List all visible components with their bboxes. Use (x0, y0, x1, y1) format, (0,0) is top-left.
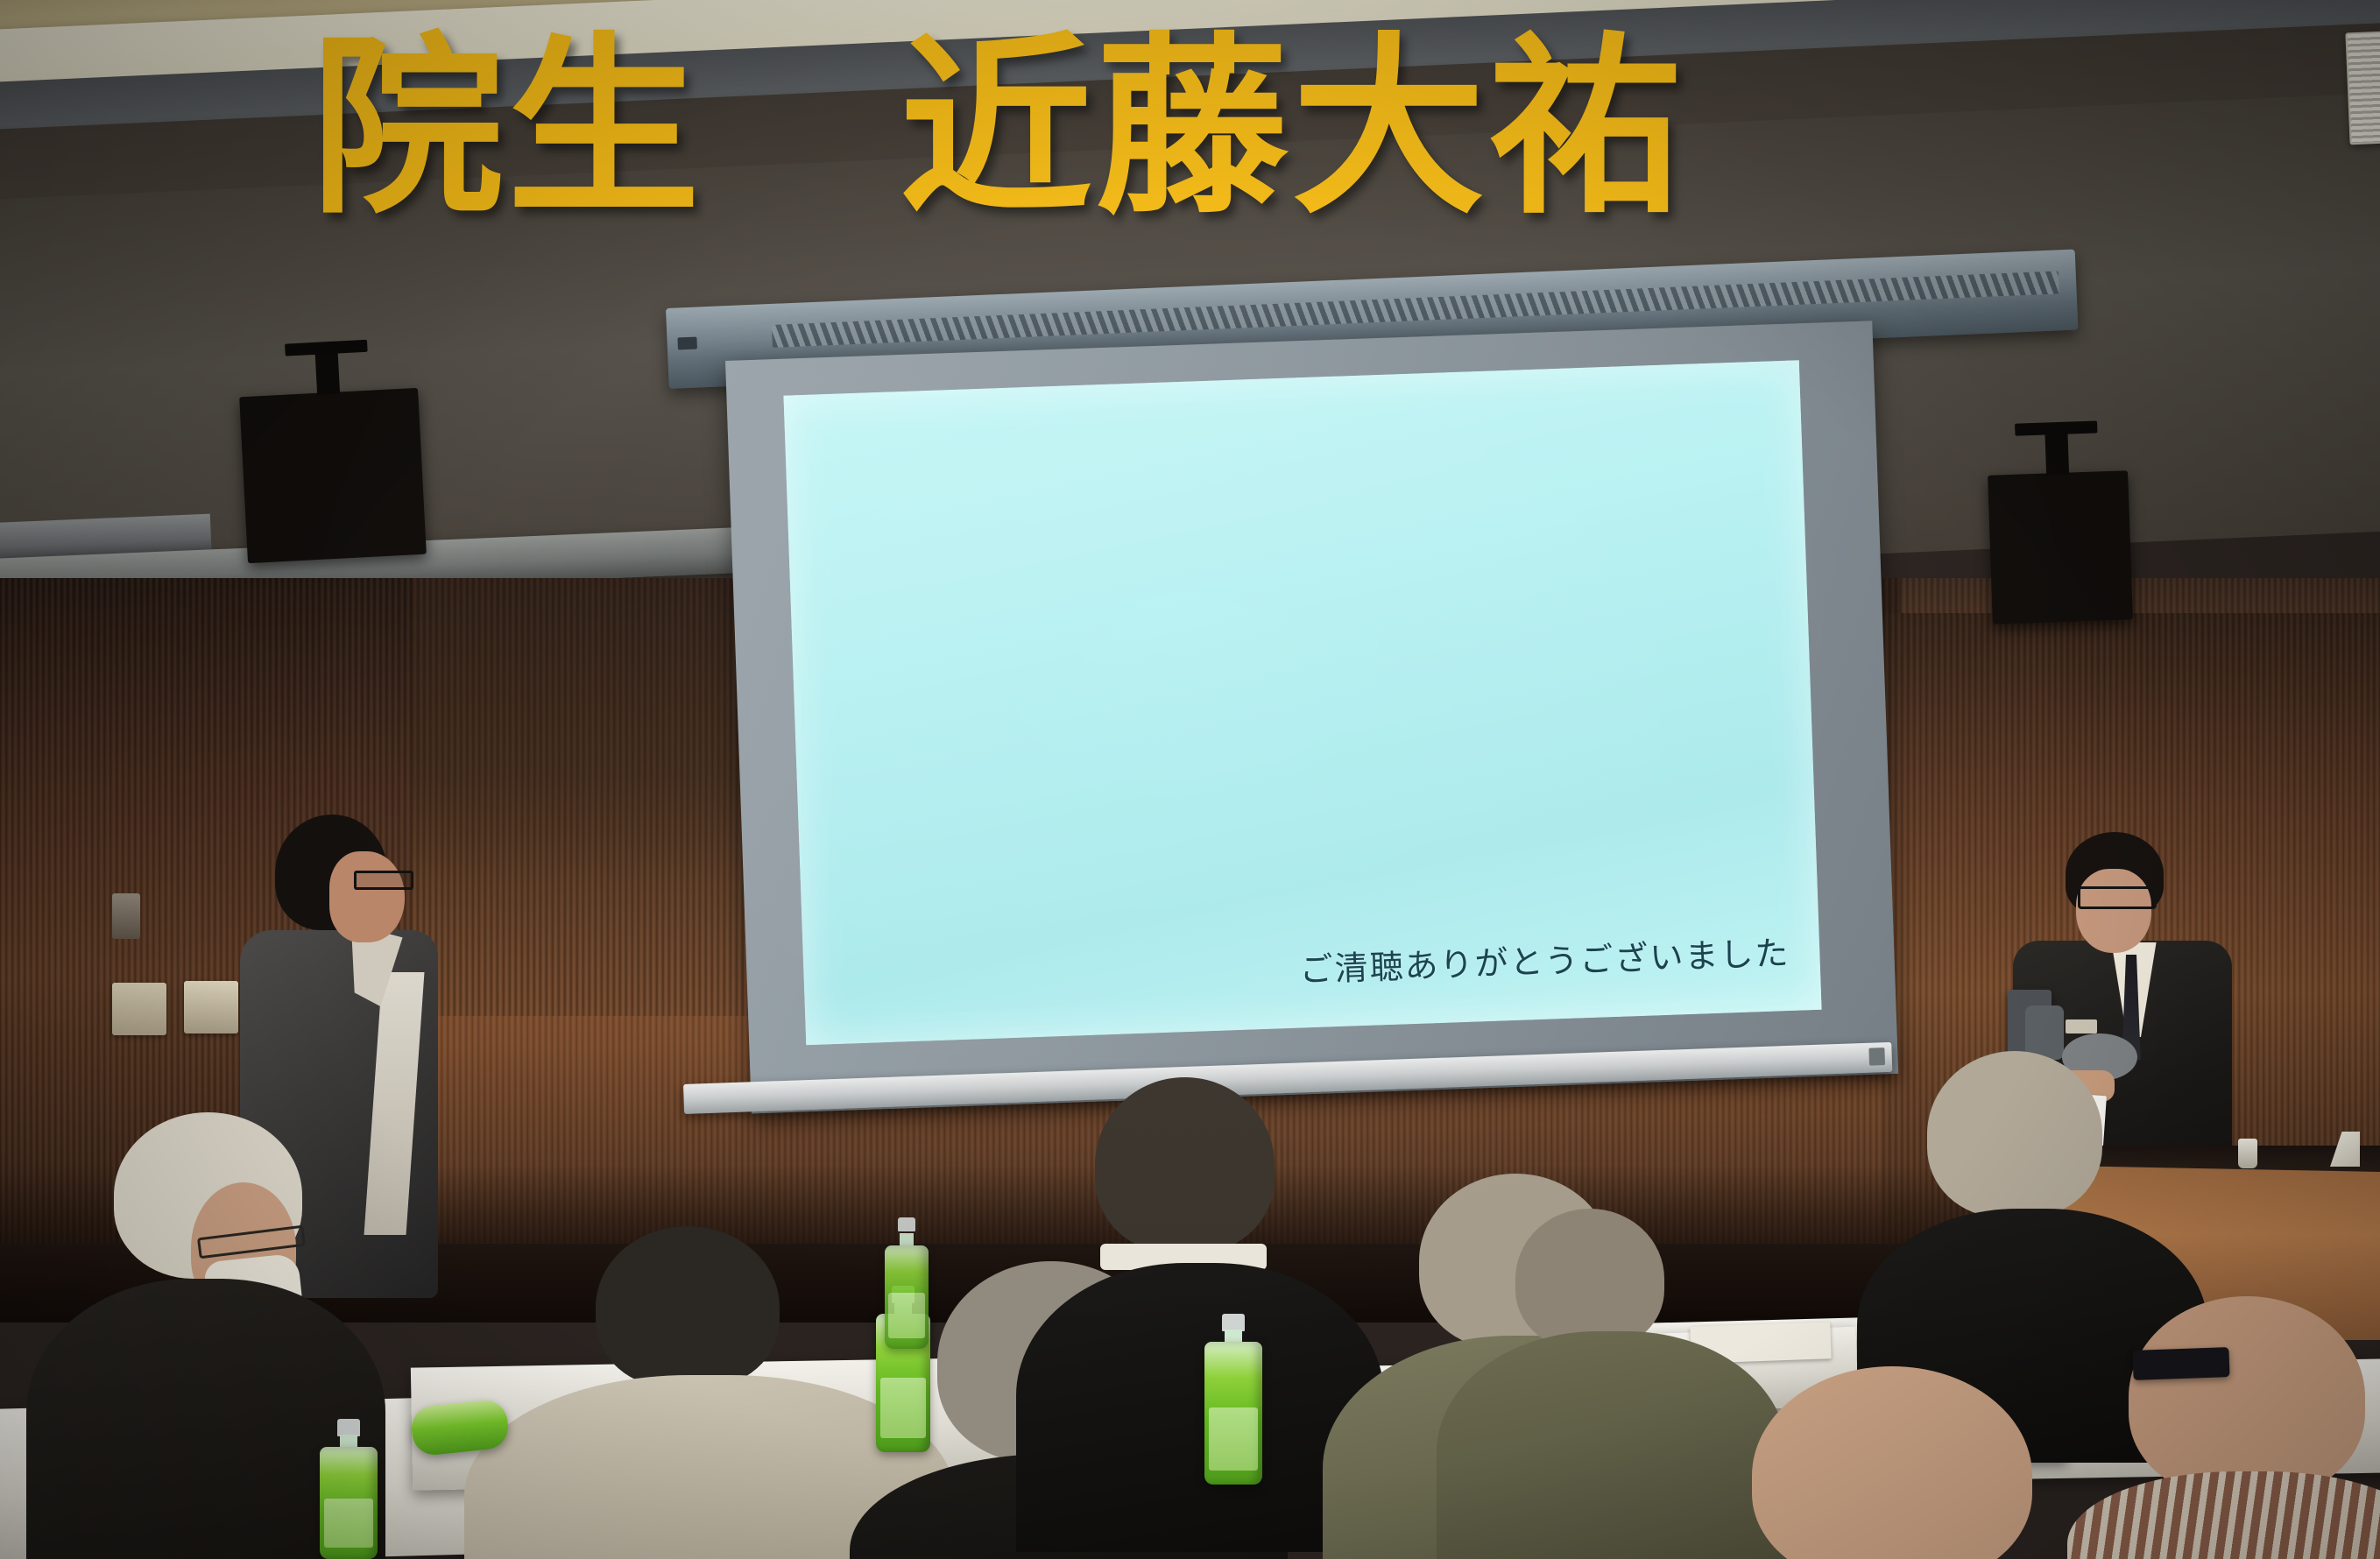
audience-member-4 (1051, 1077, 1340, 1480)
podium-speaker-face (2076, 869, 2151, 953)
audience-hair-4 (1095, 1077, 1275, 1252)
slide-text: ご清聴ありがとうございました (1299, 926, 1791, 991)
green-tea-bottle (320, 1419, 378, 1559)
ceiling-speaker-icon (239, 388, 427, 563)
audience-hair-7 (1515, 1209, 1664, 1349)
audience-shoulders-9 (2067, 1471, 2380, 1559)
phone-icon[interactable] (2132, 1347, 2229, 1380)
green-tea-bottle-4 (885, 1217, 929, 1349)
audience-hair-2 (596, 1226, 780, 1388)
bottle-body (320, 1447, 378, 1559)
audience-hair-6 (1927, 1051, 2102, 1217)
bottle-body-3 (1204, 1342, 1262, 1485)
bottle-label-2 (880, 1378, 926, 1439)
projection-screen-frame: ご清聴ありがとうございました (725, 321, 1898, 1113)
name-badge (2066, 1019, 2097, 1033)
audience-bald-head (1752, 1366, 2032, 1559)
wall-control-panel-icon[interactable] (184, 981, 238, 1033)
wall-switch-icon[interactable] (112, 893, 140, 939)
wall-outlet-icon[interactable] (112, 983, 166, 1035)
air-vent-icon (2345, 31, 2380, 145)
audience-member-9 (2102, 1296, 2380, 1559)
bottle-cap (337, 1419, 360, 1436)
page-title: 院生 近藤大祐 (311, 32, 1684, 224)
green-tea-bottle-3 (1204, 1314, 1262, 1485)
glasses-icon (354, 871, 413, 890)
bottle-label (324, 1499, 372, 1548)
bottle-label-4 (888, 1293, 925, 1338)
speaker-mount-bracket (315, 352, 340, 395)
screen-housing-label (677, 337, 697, 350)
audience-member-2 (543, 1226, 893, 1559)
audience-member-8 (1734, 1366, 2067, 1559)
projection-screen-surface: ご清聴ありがとうございました (783, 360, 1821, 1045)
ceiling-speaker-icon-right (1988, 470, 2133, 624)
bottle-label-3 (1209, 1407, 1257, 1471)
glasses-icon-podium (2078, 886, 2157, 909)
bottle-cap-4 (898, 1217, 915, 1231)
bottle-body-4 (885, 1245, 929, 1349)
presenter-face (329, 851, 405, 942)
lecture-hall-photo: ご清聴ありがとうございました (0, 0, 2380, 1559)
audience-bald-head-2 (2129, 1296, 2365, 1498)
podium-item-cup (2238, 1139, 2257, 1168)
bottle-cap-3 (1222, 1314, 1245, 1331)
speaker-mount-bracket-right (2045, 433, 2069, 476)
